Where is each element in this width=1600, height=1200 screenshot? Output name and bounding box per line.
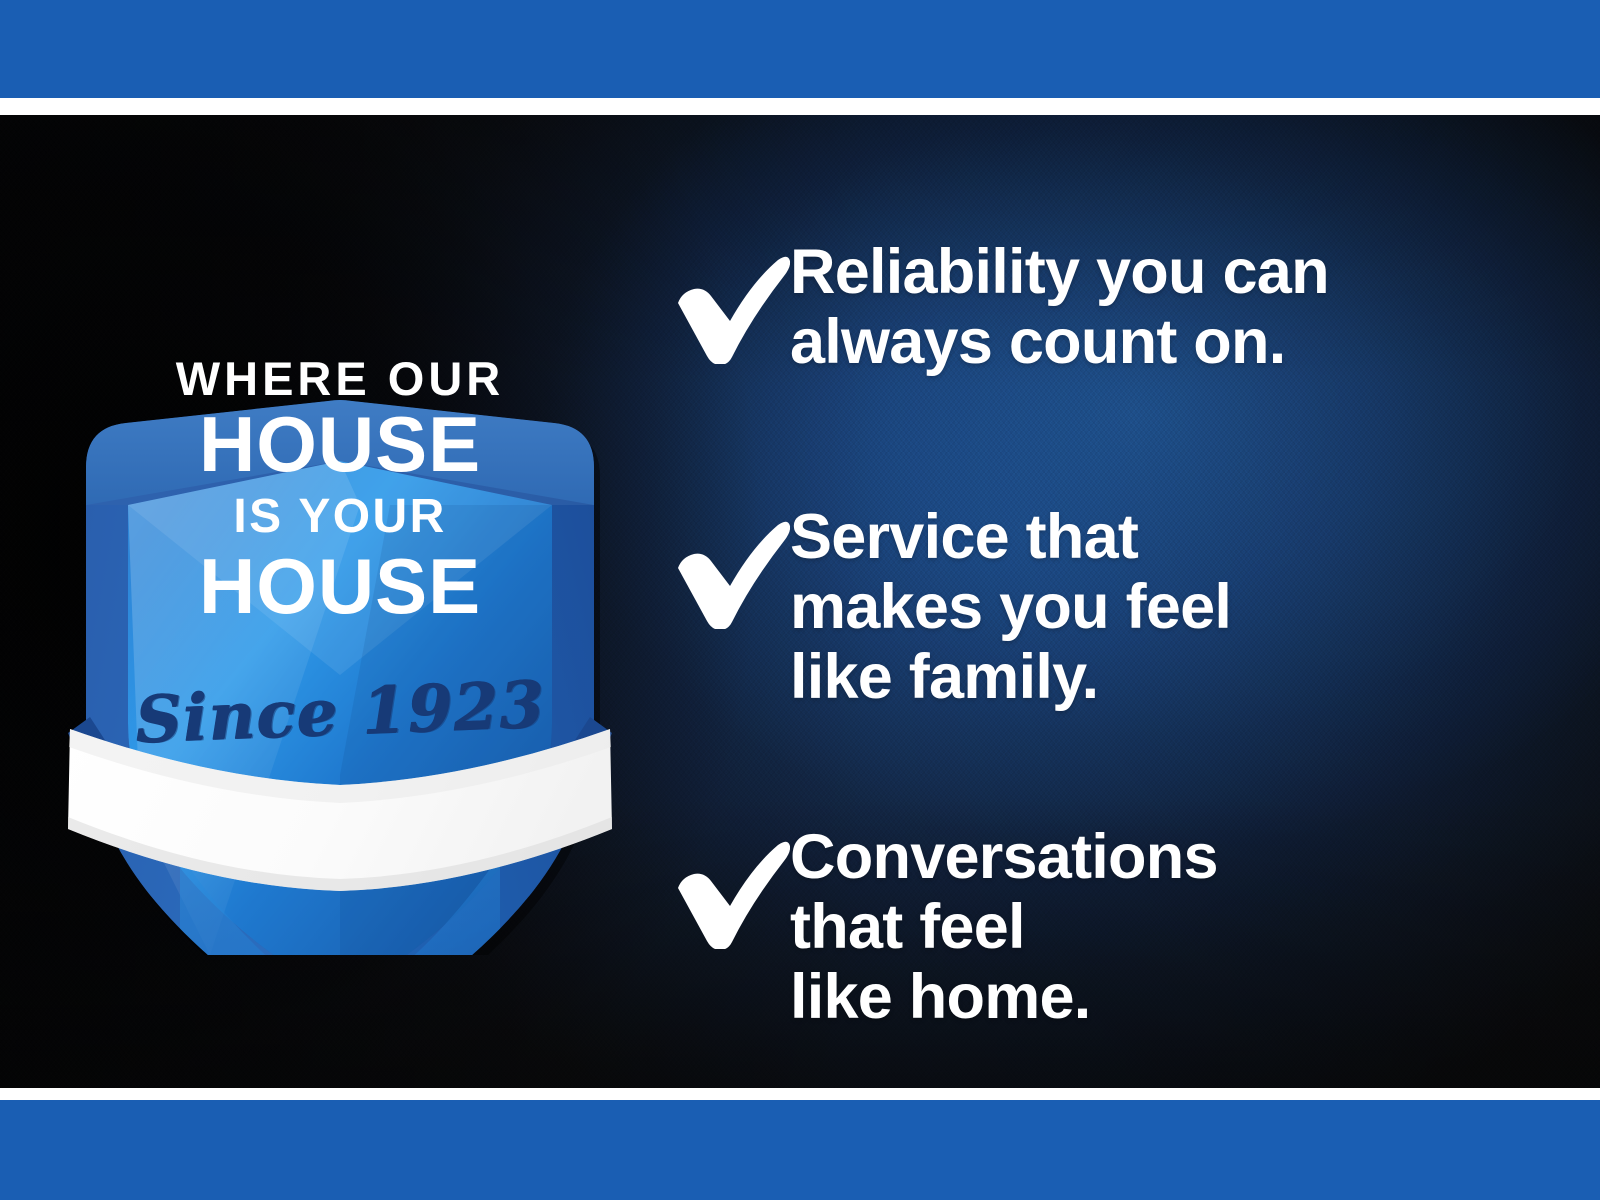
logo-tagline-line-2: HOUSE (60, 405, 620, 483)
benefit-item-conversations: Conversations that feel like home. (660, 820, 1218, 1032)
benefit-text: Service that makes you feel like family. (790, 500, 1231, 712)
checkmark-icon (660, 824, 790, 949)
benefit-text: Reliability you can always count on. (790, 235, 1329, 377)
banner-canvas: WHERE OUR HOUSE IS YOUR HOUSE Since 1923… (0, 0, 1600, 1200)
logo-tagline-line-1: WHERE OUR (60, 355, 620, 402)
top-brand-bar (0, 0, 1600, 98)
main-panel: WHERE OUR HOUSE IS YOUR HOUSE Since 1923… (0, 115, 1600, 1088)
benefits-list: Reliability you can always count on. Ser… (660, 210, 1560, 1070)
bottom-brand-bar (0, 1100, 1600, 1200)
benefit-item-service: Service that makes you feel like family. (660, 500, 1231, 712)
checkmark-icon (660, 504, 790, 629)
shield-logo: WHERE OUR HOUSE IS YOUR HOUSE Since 1923 (60, 255, 620, 955)
benefit-text: Conversations that feel like home. (790, 820, 1218, 1032)
logo-tagline-line-3: IS YOUR (60, 493, 620, 541)
logo-tagline-line-4: HOUSE (60, 547, 620, 625)
checkmark-icon (660, 239, 790, 364)
benefit-item-reliability: Reliability you can always count on. (660, 235, 1329, 377)
